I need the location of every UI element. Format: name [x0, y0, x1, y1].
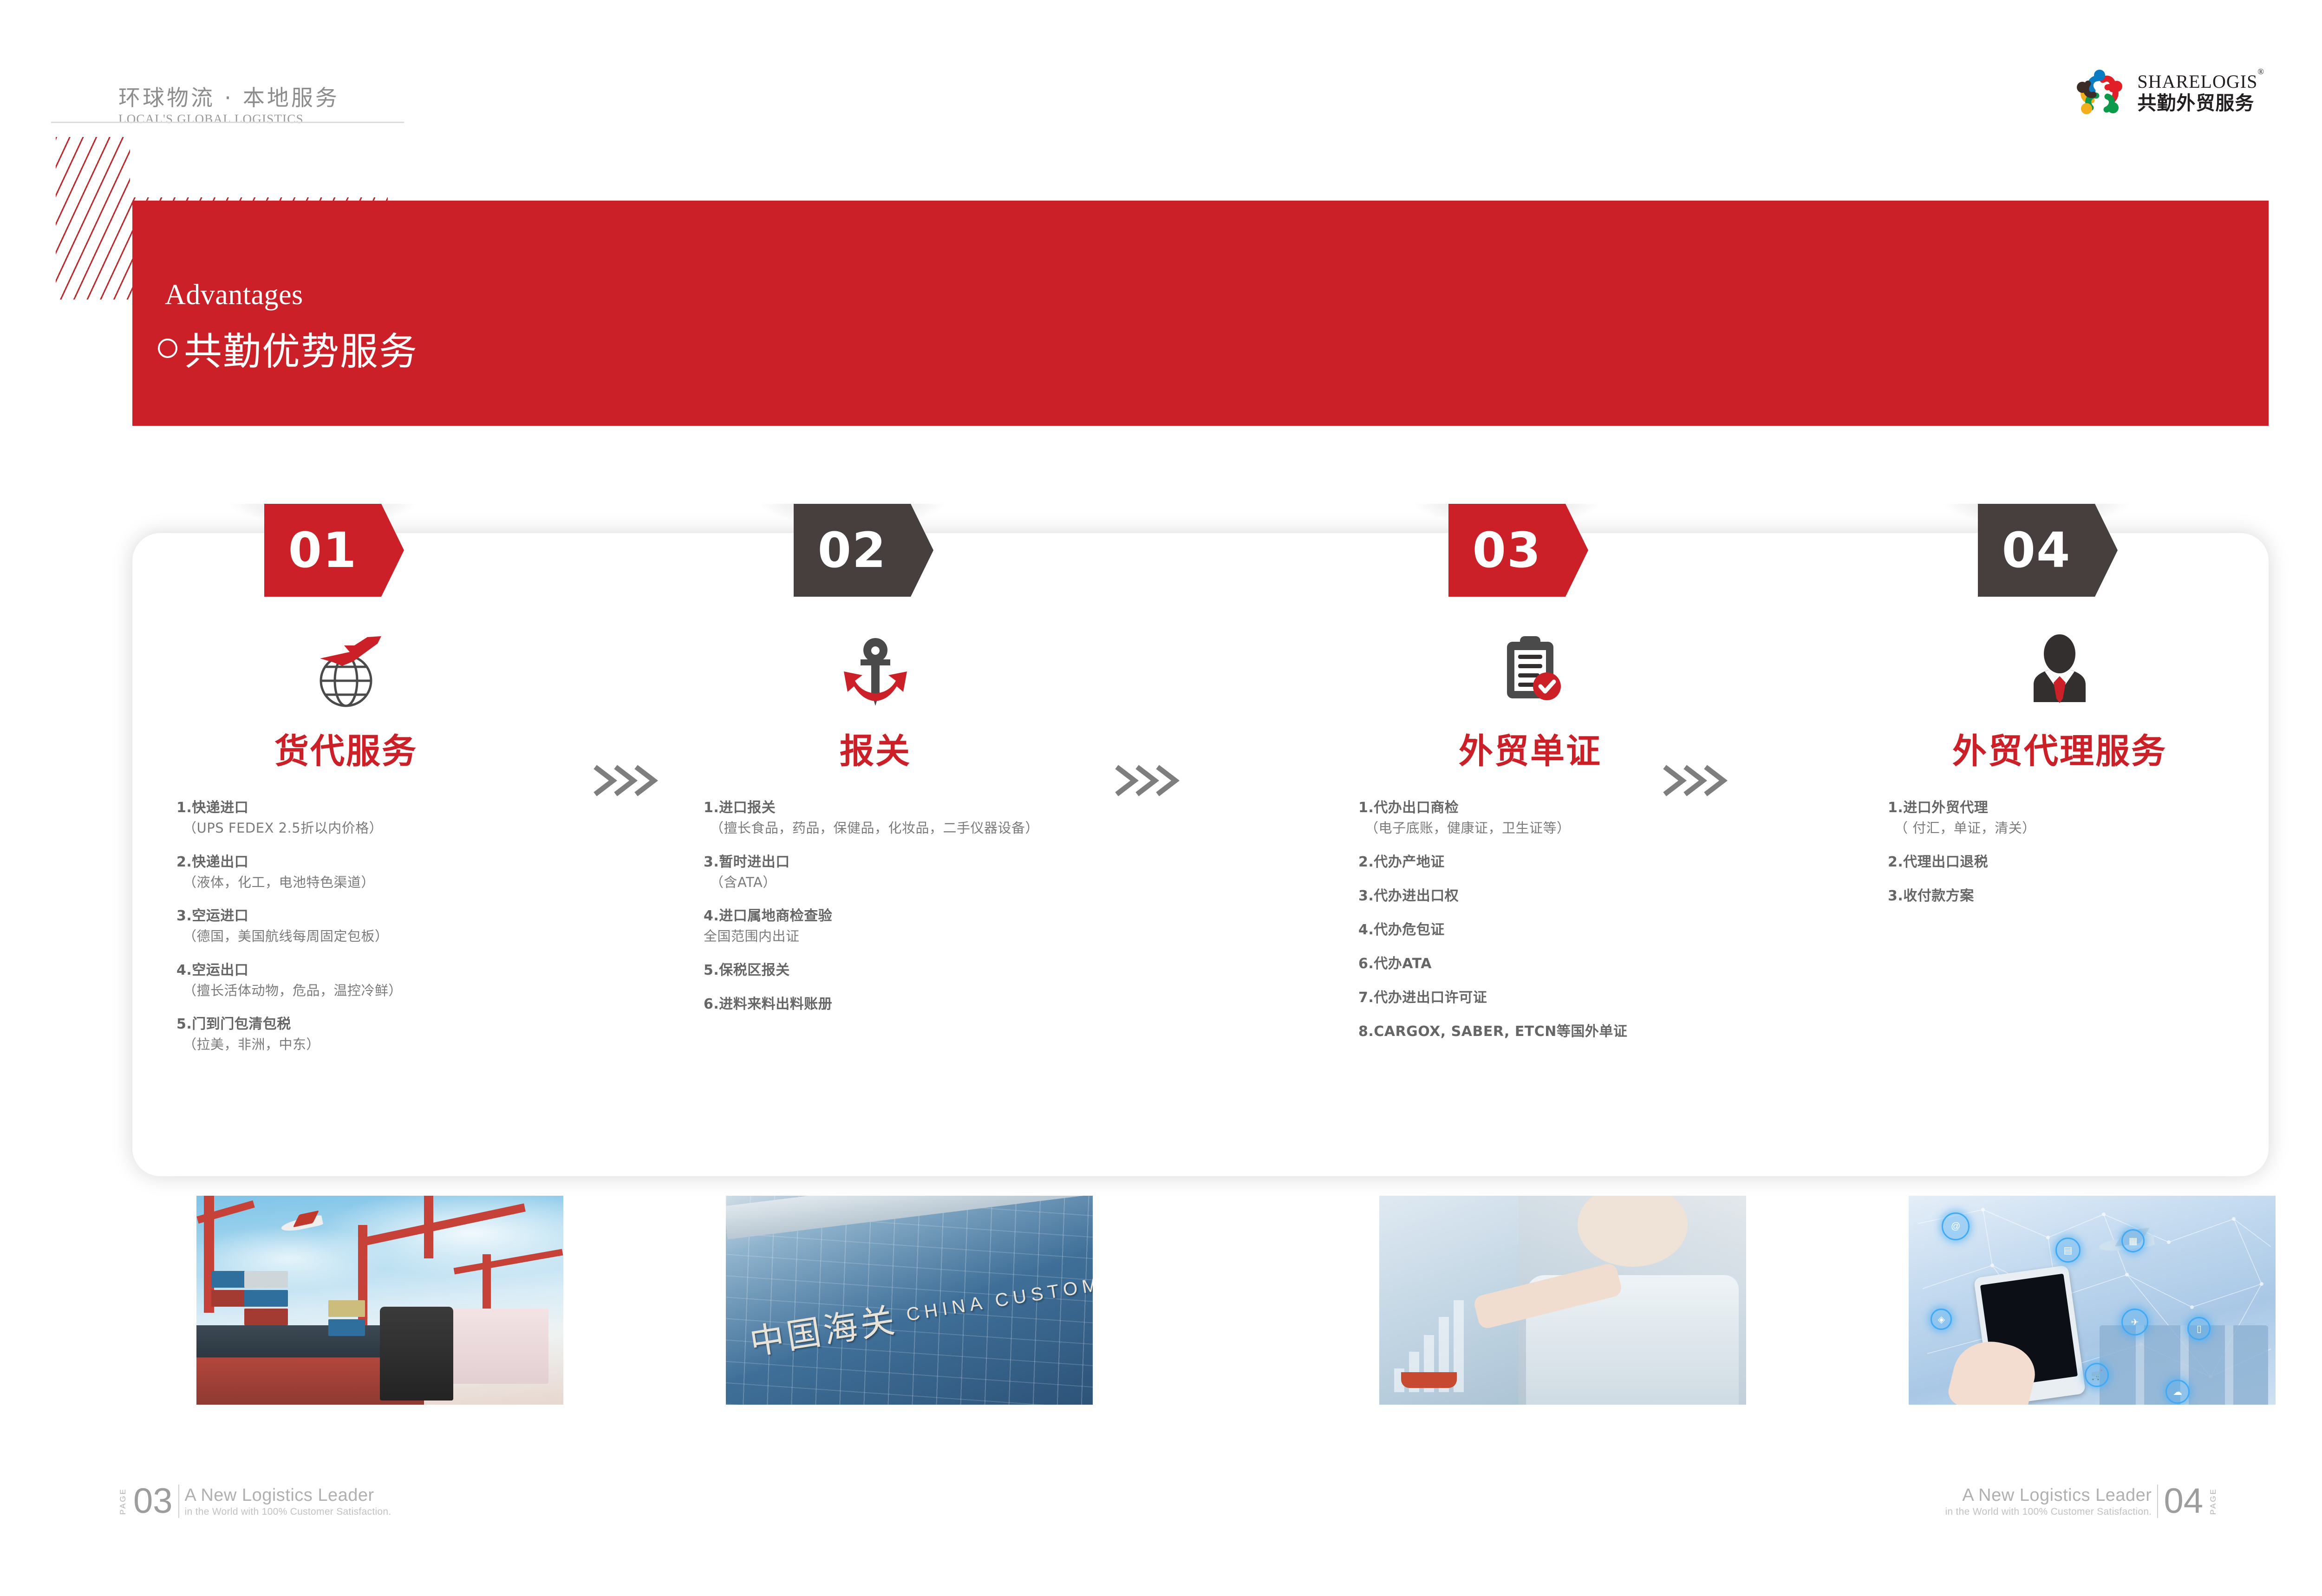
step-badge-02[interactable]: 02: [771, 504, 933, 597]
footer-tagline-right-line1: A New Logistics Leader: [1945, 1485, 2152, 1505]
list-item: 7.代办进出口许可证: [1358, 987, 1781, 1008]
registered-trademark-icon: ®: [2257, 67, 2264, 76]
list-item: 1.进口报关（擅长食品，药品，保健品，化妆品，二手仪器设备）: [704, 797, 1126, 839]
list-item: 3.代办进出口权: [1358, 886, 1781, 906]
header-divider: [51, 122, 404, 123]
advantage-title-2: 报关: [625, 723, 1126, 773]
advantage-column-2: 报关 1.进口报关（擅长食品，药品，保健品，化妆品，二手仪器设备） 3.暂时进出…: [625, 599, 1126, 1017]
footer-page-number-left: 03: [133, 1485, 173, 1518]
advantage-list-3: 1.代办出口商检（电子底账，健康证，卫生证等） 2.代办产地证 3.代办进出口权…: [1279, 797, 1781, 1042]
list-item: 3.暂时进出口（含ATA）: [704, 852, 1126, 893]
digital-logistics-photo: @ ▤ ▦ ✈ ▯ 🛒 ☁ ◈: [1909, 1196, 2276, 1405]
advantage-column-3: 外贸单证 1.代办出口商检（电子底账，健康证，卫生证等） 2.代办产地证 3.代…: [1279, 599, 1781, 1045]
list-item: 5.门到门包清包税（拉美，非洲，中东）: [176, 1014, 597, 1055]
footer-right: A New Logistics Leader in the World with…: [1945, 1485, 2218, 1518]
footer-tagline-right-line2: in the World with 100% Customer Satisfac…: [1945, 1506, 2152, 1518]
advantage-list-1: 1.快递进口（UPS FEDEX 2.5折以内价格） 2.快递出口（液体，化工，…: [95, 797, 597, 1055]
list-item: 2.代办产地证: [1358, 852, 1781, 873]
list-item: 4.空运出口（擅长活体动物，危品，温控冷鲜）: [176, 960, 597, 1001]
list-item: 1.进口外贸代理（ 付汇，单证，清关）: [1888, 797, 2310, 839]
advantages-columns: 货代服务 1.快递进口（UPS FEDEX 2.5折以内价格） 2.快递出口（液…: [132, 599, 2269, 1175]
list-item: 4.代办危包证: [1358, 919, 1781, 940]
list-item: 2.代理出口退税: [1888, 852, 2310, 873]
list-item: 5.保税区报关: [704, 960, 1126, 981]
list-item: 3.收付款方案: [1888, 886, 2310, 906]
step-badge-04[interactable]: 04: [1955, 504, 2118, 597]
brand-tagline: 环球物流 · 本地服务 LOCAL'S GLOBAL LOGISTICS: [118, 86, 444, 126]
cloud-upload-bubble-icon: ☁: [2165, 1380, 2190, 1404]
list-item: 2.快递出口（液体，化工，电池特色渠道）: [176, 852, 597, 893]
section-title-cn-text: 共勤优势服务: [184, 320, 418, 376]
list-item: 6.代办ATA: [1358, 953, 1781, 974]
logo-wordmark-cn: 共勤外贸服务: [2137, 94, 2264, 113]
chevron-separator-2: [1112, 764, 1187, 797]
section-title-cn: 共勤优势服务: [158, 320, 418, 376]
footer-tagline-left-line1: A New Logistics Leader: [185, 1485, 391, 1505]
customs-sign-cn: 中国海关: [746, 1292, 900, 1365]
businessman-icon: [1809, 599, 2310, 710]
advantage-title-1: 货代服务: [95, 723, 597, 773]
anchor-icon: [625, 599, 1126, 710]
chevron-separator-3: [1660, 764, 1735, 797]
footer-left: PAGE 03 A New Logistics Leader in the Wo…: [118, 1485, 391, 1518]
barcode-bubble-icon: ▦: [2121, 1229, 2145, 1252]
step-badge-03[interactable]: 03: [1426, 504, 1588, 597]
list-item: 8.CARGOX, SABER, ETCN等国外单证: [1358, 1021, 1781, 1042]
photo-strip: 中国海关 CHINA CUSTOMS: [132, 1196, 2269, 1419]
customs-sign-en: CHINA CUSTOMS: [905, 1271, 1093, 1326]
company-logo: SHARELOGIS® 共勤外贸服务: [2072, 65, 2264, 120]
circle-bullet-icon: [158, 339, 177, 358]
basket-bubble-icon: ▤: [2055, 1238, 2081, 1263]
list-item: 4.进口属地商检查验全国范围内出证: [704, 905, 1126, 947]
list-item: 3.空运进口（德国，美国航线每周固定包板）: [176, 905, 597, 947]
logo-wordmark-text: SHARELOGIS: [2137, 71, 2257, 92]
step-badges: 01 02 03 04: [132, 504, 2269, 606]
brand-tagline-en: LOCAL'S GLOBAL LOGISTICS: [118, 112, 444, 126]
globe-airplane-icon: [95, 599, 597, 710]
clipboard-check-icon: [1279, 599, 1781, 710]
at-symbol-bubble-icon: @: [1942, 1212, 1970, 1240]
page-footer: PAGE 03 A New Logistics Leader in the Wo…: [0, 1485, 2322, 1536]
logo-wordmark-en: SHARELOGIS®: [2137, 72, 2264, 91]
section-banner: [132, 201, 2269, 426]
footer-divider-left: [178, 1485, 179, 1518]
port-crane-truck-photo: [196, 1196, 563, 1405]
footer-page-label-left: PAGE: [118, 1488, 128, 1515]
inspector-data-photo: [1379, 1196, 1746, 1405]
section-title-en: Advantages: [165, 279, 303, 312]
step-badge-01[interactable]: 01: [241, 504, 404, 597]
list-item: 1.快递进口（UPS FEDEX 2.5折以内价格）: [176, 797, 597, 839]
advantage-list-2: 1.进口报关（擅长食品，药品，保健品，化妆品，二手仪器设备） 3.暂时进出口（含…: [625, 797, 1126, 1015]
list-item: 6.进料来料出料账册: [704, 994, 1126, 1015]
brand-tagline-cn: 环球物流 · 本地服务: [118, 86, 444, 111]
chevron-separator-1: [591, 764, 665, 797]
list-item: 1.代办出口商检（电子底账，健康证，卫生证等）: [1358, 797, 1781, 839]
advantage-column-1: 货代服务 1.快递进口（UPS FEDEX 2.5折以内价格） 2.快递出口（液…: [95, 599, 597, 1058]
footer-divider-right: [2157, 1485, 2158, 1518]
sharelogis-mark-icon: [2072, 65, 2127, 120]
advantage-title-4: 外贸代理服务: [1809, 723, 2310, 773]
cart-bubble-icon: 🛒: [2085, 1363, 2109, 1387]
advantage-list-4: 1.进口外贸代理（ 付汇，单证，清关） 2.代理出口退税 3.收付款方案: [1809, 797, 2310, 906]
hatch-mask-top: [130, 137, 409, 197]
advantage-column-4: 外贸代理服务 1.进口外贸代理（ 付汇，单证，清关） 2.代理出口退税 3.收付…: [1809, 599, 2310, 909]
footer-tagline-left-line2: in the World with 100% Customer Satisfac…: [185, 1506, 391, 1518]
footer-page-number-right: 04: [2164, 1485, 2203, 1518]
china-customs-building-photo: 中国海关 CHINA CUSTOMS: [726, 1196, 1093, 1405]
footer-page-label-right: PAGE: [2209, 1488, 2218, 1515]
airplane-bubble-icon: ✈: [2121, 1309, 2148, 1335]
